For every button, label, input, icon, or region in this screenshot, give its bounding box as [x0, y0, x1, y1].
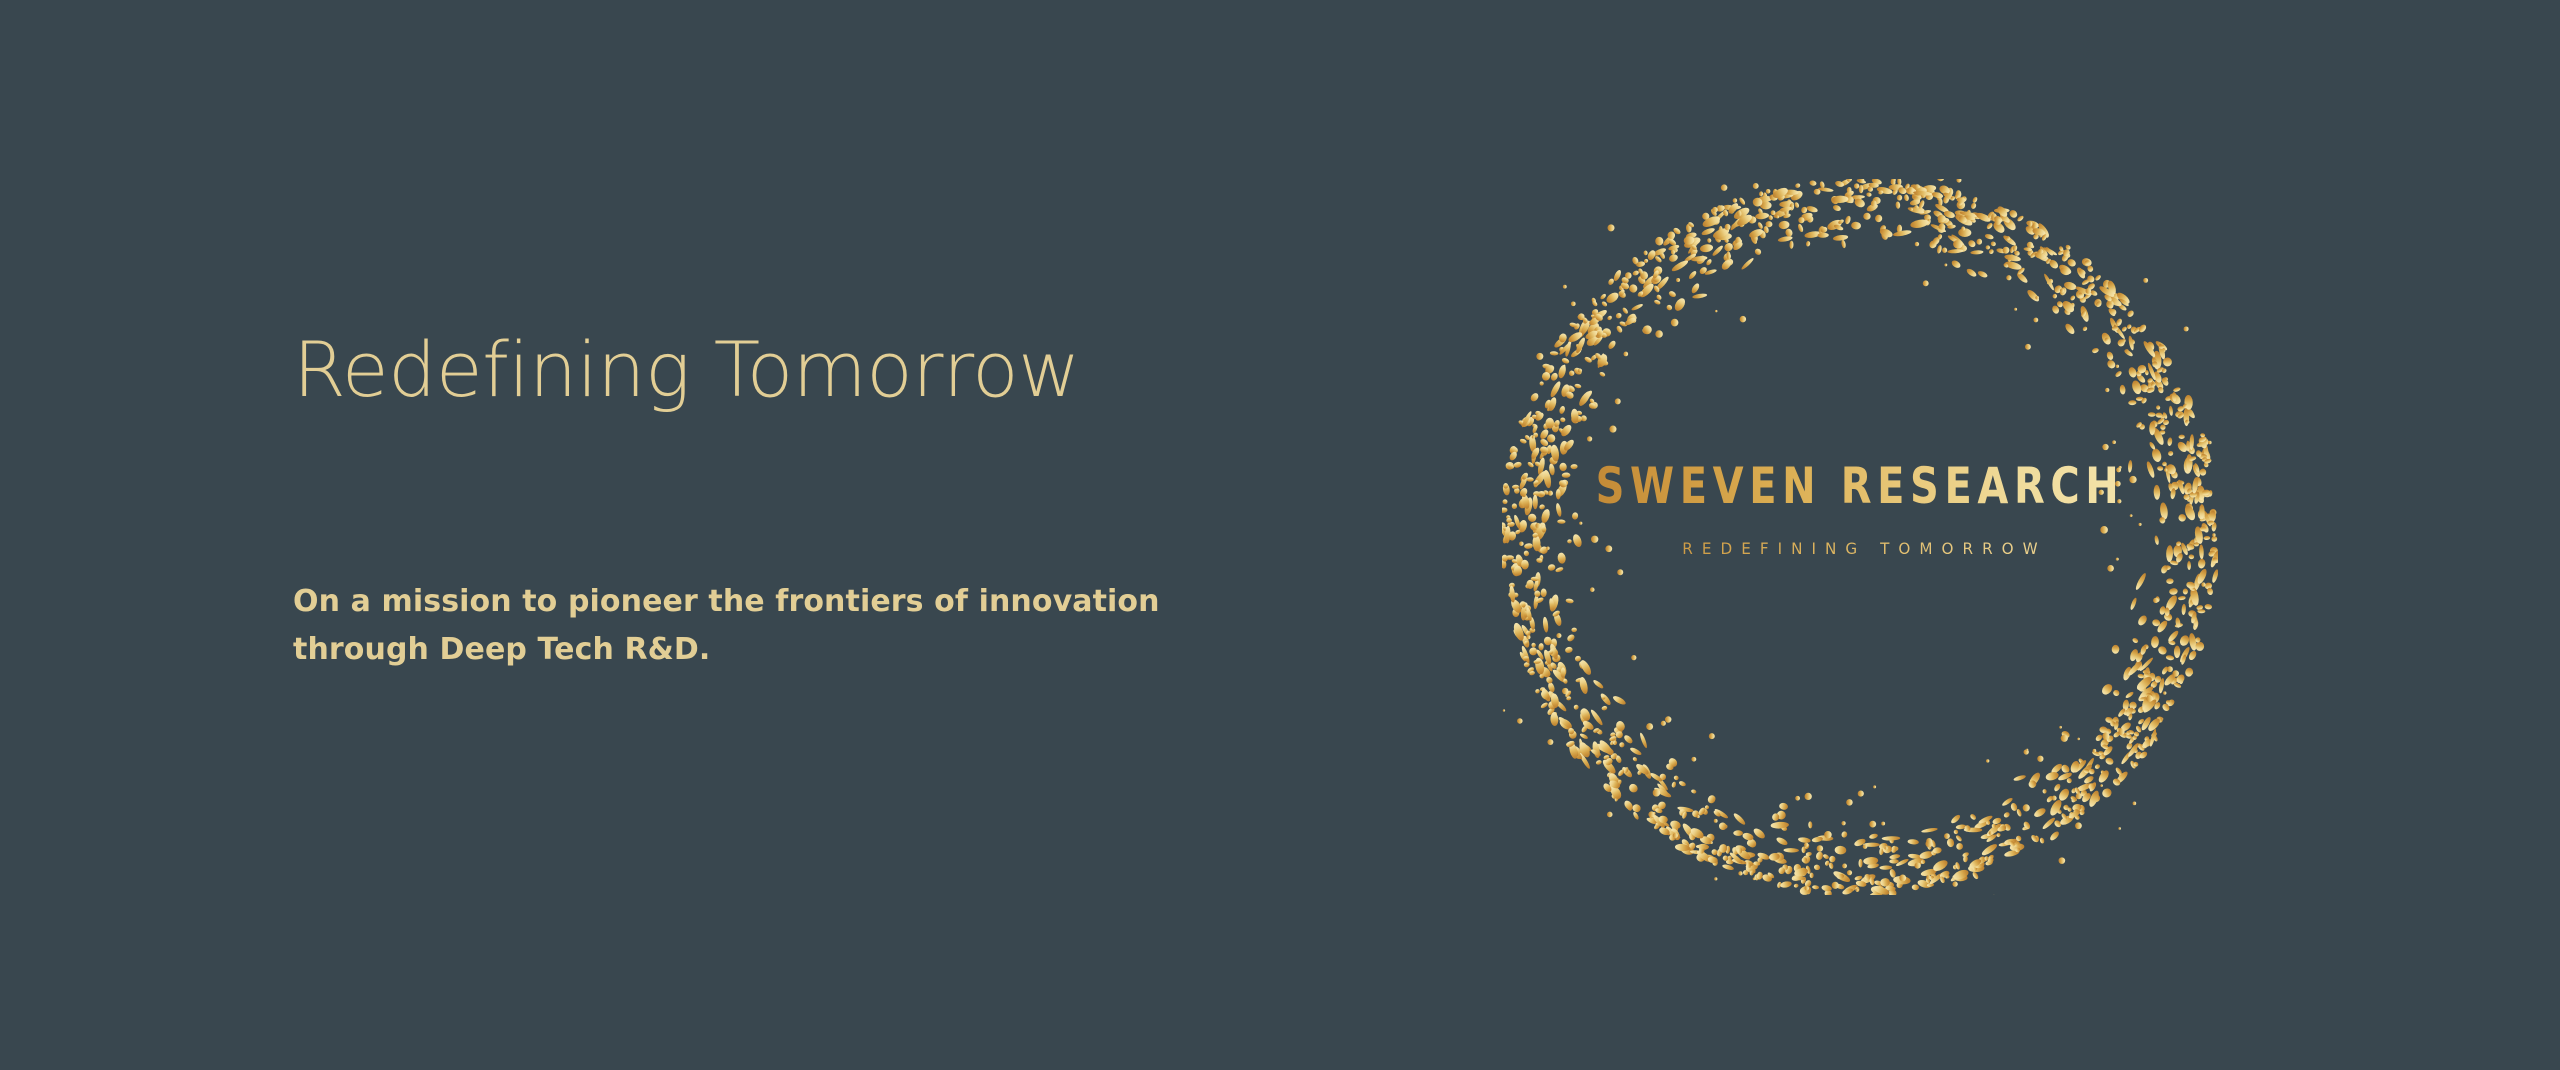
hero-subcopy-line-1: On a mission to pioneer the frontiers of… — [293, 578, 1223, 627]
page-title: Redefining Tomorrow — [293, 330, 1343, 410]
hero-subcopy: On a mission to pioneer the frontiers of… — [293, 578, 1223, 675]
hero-copy-block: Redefining Tomorrow On a mission to pion… — [293, 330, 1343, 675]
particle-ring-icon — [1502, 179, 2218, 895]
hero-section: Redefining Tomorrow On a mission to pion… — [0, 0, 2560, 1070]
hero-subcopy-line-2: through Deep Tech R&D. — [293, 626, 1223, 675]
brand-logo: SWEVEN RESEARCH REDEFINING TOMORROW — [1502, 179, 2218, 895]
